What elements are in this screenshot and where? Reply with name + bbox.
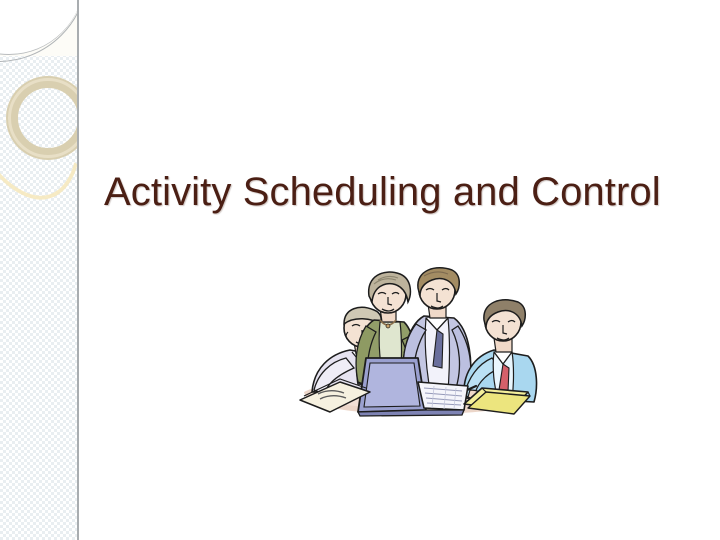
clipart-business-team-meeting [296,264,540,426]
clipart-svg [296,264,540,426]
sidebar-divider-rule [77,0,79,540]
slide-canvas: Activity Scheduling and Control [0,0,720,540]
decorative-sidebar-band [0,0,78,540]
tan-ring-highlight-icon [8,78,78,158]
slide-title: Activity Scheduling and Control [104,168,716,216]
